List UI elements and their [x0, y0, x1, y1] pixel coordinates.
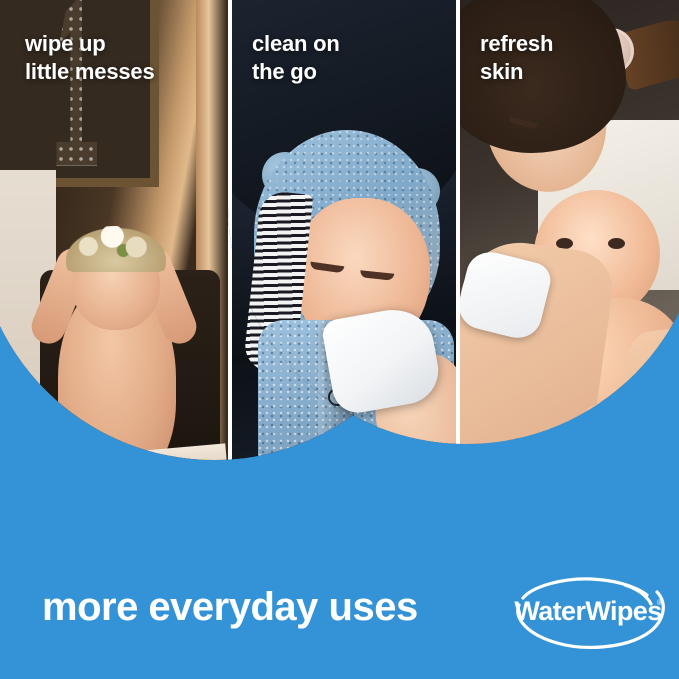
photo-collage: wipe up little messes clean on the go re…	[0, 0, 679, 560]
caption-refresh-skin: refresh skin	[480, 30, 553, 86]
advertisement-banner: wipe up little messes clean on the go re…	[0, 0, 679, 679]
baby-eye-right	[608, 238, 625, 249]
caption-wipe-up-little-messes: wipe up little messes	[25, 30, 154, 86]
footer-band: more everyday uses WaterWipes ®	[0, 559, 679, 679]
svg-text:WaterWipes: WaterWipes	[514, 596, 661, 626]
svg-text:®: ®	[657, 598, 663, 607]
cake-on-head	[70, 226, 162, 260]
waterwipes-logo-icon: WaterWipes ®	[505, 565, 671, 661]
footer-headline: more everyday uses	[42, 583, 418, 631]
caption-clean-on-the-go: clean on the go	[252, 30, 340, 86]
